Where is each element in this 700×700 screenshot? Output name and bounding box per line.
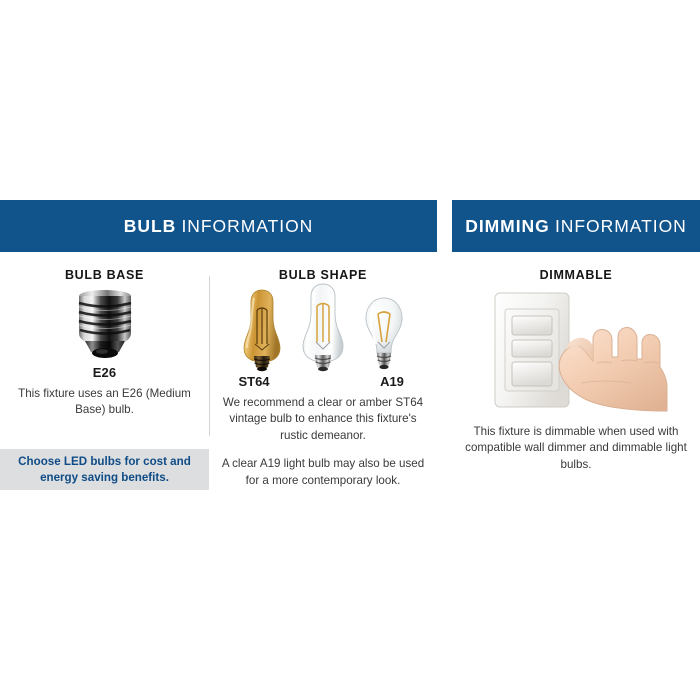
bulb-base-description: This fixture uses an E26 (Medium Base) b… [17,386,193,419]
dimmable-description: This fixture is dimmable when used with … [464,424,688,473]
dimmable-heading: DIMMABLE [452,268,700,282]
clear-a19-bulb-photo [361,296,407,372]
e26-bulb-base-photo [0,286,209,362]
dimming-panel-body: DIMMABLE [452,252,700,490]
bulb-base-heading: BULB BASE [0,268,209,282]
bulb-shape-photo-row [209,286,437,372]
clear-st64-bulb-photo [298,282,348,372]
bulb-banner-strong-text: BULB [124,216,176,237]
hand-pressing-wall-dimmer-switch-photo [452,286,700,414]
info-graphic-stage: BULB INFORMATION BULB BASE [0,0,700,700]
bulb-base-caption: E26 [0,365,209,380]
bulb-shape-paragraph-1: We recommend a clear or amber ST64 vinta… [220,395,426,444]
column-divider [209,276,210,436]
dimming-information-panel: DIMMING INFORMATION DIMMABLE [452,200,700,490]
bulb-shape-paragraph-2: A clear A19 light bulb may also be used … [219,456,427,489]
bulb-shape-label-a19: A19 [364,374,420,389]
amber-st64-bulb-photo [239,288,285,372]
led-callout-box: Choose LED bulbs for cost and energy sav… [0,449,209,490]
dimming-banner-light-text: INFORMATION [555,216,687,237]
bulb-banner-light-text: INFORMATION [181,216,313,237]
dimming-information-banner: DIMMING INFORMATION [452,200,700,252]
bulb-shape-label-row: ST64 A19 [209,374,437,389]
bulb-shape-label-st64: ST64 [226,374,282,389]
dimming-banner-strong-text: DIMMING [465,216,550,237]
bulb-information-panel: BULB INFORMATION BULB BASE [0,200,437,490]
led-callout-text: Choose LED bulbs for cost and energy sav… [0,454,209,486]
bulb-shape-heading: BULB SHAPE [209,268,437,282]
bulb-information-banner: BULB INFORMATION [0,200,437,252]
bulb-shape-column: BULB SHAPE [209,252,437,490]
